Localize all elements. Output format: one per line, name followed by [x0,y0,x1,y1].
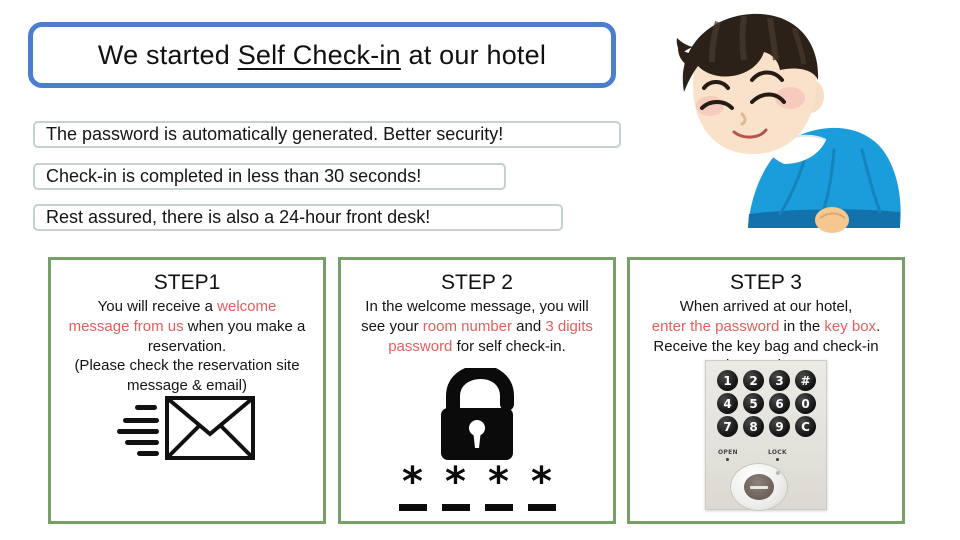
body-text: You will receive a [98,298,218,315]
step-body-line: In the welcome message, you will [349,297,605,317]
password-slot: * [398,470,428,511]
step-figure: * * * * [341,368,613,511]
keypad-lock-photo: 1 2 3 # 4 5 6 0 7 8 9 C OPEN LOCK [705,360,827,510]
highlighted-text: 3 digits [545,318,593,335]
body-text: in the [779,318,824,335]
body-text: when you make a [184,318,306,335]
title-prefix: We started [98,40,238,70]
keypad-key[interactable]: 4 [717,393,738,414]
open-indicator-dot [726,458,729,461]
step-body-line: Receive the key bag and check-in [638,337,894,357]
bullet-text: Rest assured, there is also a 24-hour fr… [46,207,430,228]
bullet-box-security: The password is automatically generated.… [33,121,621,148]
keypad-key[interactable]: C [795,416,816,437]
body-text: Receive the key bag and check-in [653,338,878,355]
body-text: When arrived at our hotel, [680,298,853,315]
step-body-line: message from us when you make a [59,317,315,337]
title-suffix: at our hotel [401,40,546,70]
step-body-line: see your room number and 3 digits [349,317,605,337]
body-text: . [876,318,880,335]
keypad-key[interactable]: 6 [769,393,790,414]
step-body-line: password for self check-in. [349,337,605,357]
body-text: reservation. [148,338,226,355]
password-star: * [402,470,423,495]
step-body: In the welcome message, you willsee your… [341,294,613,356]
padlock-icon [431,368,523,464]
title-banner: We started Self Check-in at our hotel [28,22,616,88]
open-label-text: OPEN [718,449,738,456]
lock-indicator-dot [776,458,779,461]
body-text: see your [361,318,423,335]
step-heading: STEP 2 [341,272,613,294]
step-figure [51,388,323,468]
password-slot: * [527,470,557,511]
step-body-line: reservation. [59,337,315,357]
bullet-box-front-desk: Rest assured, there is also a 24-hour fr… [33,204,563,231]
keypad-grid: 1 2 3 # 4 5 6 0 7 8 9 C [717,370,820,438]
highlighted-text: room number [423,318,512,335]
step-body-line: You will receive a welcome [59,297,315,317]
page-title: We started Self Check-in at our hotel [98,40,546,71]
bowing-boy-illustration [648,8,954,246]
body-text: for self check-in. [452,338,565,355]
envelope-icon [117,388,257,468]
password-mask: * * * * [398,470,557,511]
keypad-key[interactable]: 8 [743,416,764,437]
title-emphasis: Self Check-in [238,40,401,70]
keypad-key[interactable]: 9 [769,416,790,437]
open-label: OPEN [718,449,738,461]
password-star: * [445,470,466,495]
keypad-key[interactable]: 2 [743,370,764,391]
keypad-key[interactable]: 7 [717,416,738,437]
key-slot [744,474,774,500]
bullet-text: Check-in is completed in less than 30 se… [46,166,421,187]
password-underline [528,504,556,511]
bullet-text: The password is automatically generated.… [46,124,503,145]
highlighted-text: welcome [217,298,276,315]
step-body-line: enter the password in the key box. [638,317,894,337]
password-underline [442,504,470,511]
password-underline [485,504,513,511]
highlighted-text: password [388,338,452,355]
highlighted-text: message from us [69,318,184,335]
body-text: (Please check the reservation site [74,357,299,374]
step-body-line: (Please check the reservation site [59,356,315,376]
step-panel-3: STEP 3 When arrived at our hotel,enter t… [627,257,905,524]
step-panel-1: STEP1 You will receive a welcomemessage … [48,257,326,524]
keypad-key[interactable]: 5 [743,393,764,414]
bullet-box-speed: Check-in is completed in less than 30 se… [33,163,506,190]
step-figure: 1 2 3 # 4 5 6 0 7 8 9 C OPEN LOCK [630,360,902,510]
keypad-key[interactable]: 1 [717,370,738,391]
password-slot: * [484,470,514,511]
step-body: You will receive a welcomemessage from u… [51,294,323,396]
password-star: * [531,470,552,495]
highlighted-text: enter the password [652,318,780,335]
highlighted-text: key box [824,318,876,335]
step-panel-2: STEP 2 In the welcome message, you wills… [338,257,616,524]
password-star: * [488,470,509,495]
step-heading: STEP 3 [630,272,902,294]
body-text: and [512,318,545,335]
step-heading: STEP1 [51,272,323,294]
password-slot: * [441,470,471,511]
keypad-key[interactable]: # [795,370,816,391]
cylinder-screw [776,471,780,475]
step-body-line: When arrived at our hotel, [638,297,894,317]
password-underline [399,504,427,511]
lock-label: LOCK [768,449,787,461]
key-cylinder[interactable] [730,463,788,511]
keypad-key[interactable]: 3 [769,370,790,391]
lock-label-text: LOCK [768,449,787,456]
keypad-key[interactable]: 0 [795,393,816,414]
body-text: In the welcome message, you will [365,298,588,315]
